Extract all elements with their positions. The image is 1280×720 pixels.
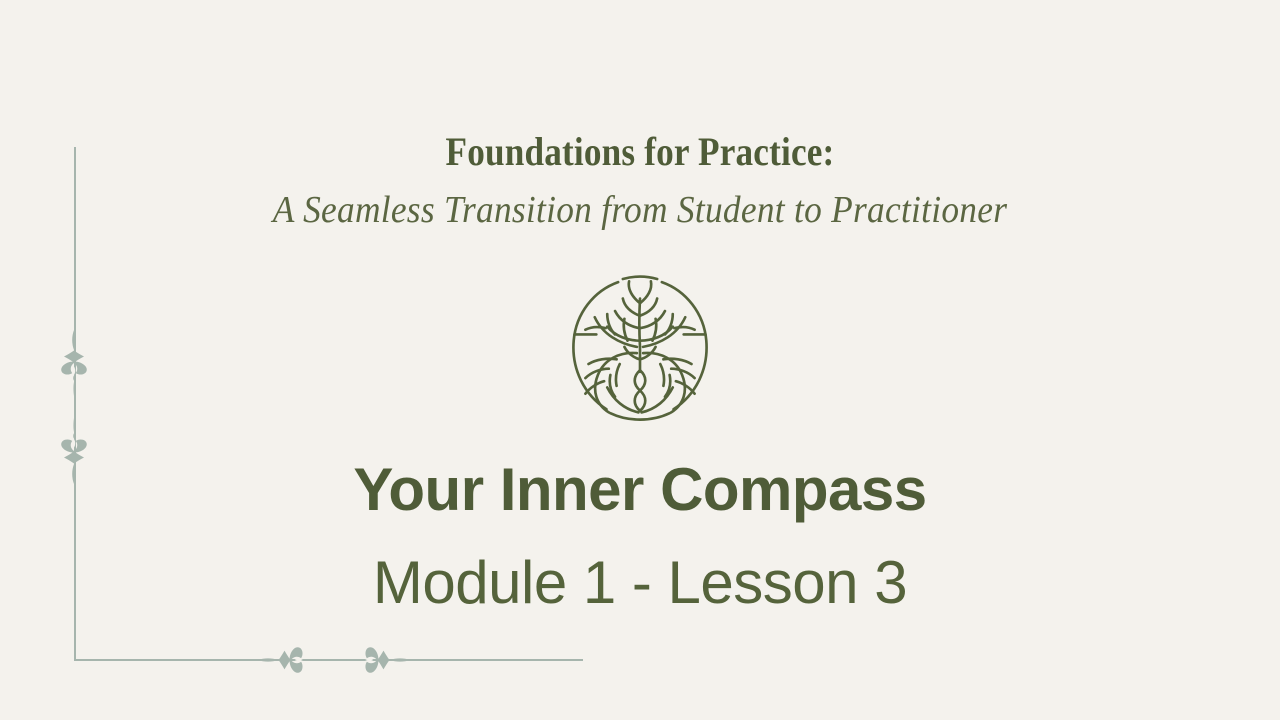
lesson-title: Your Inner Compass xyxy=(0,455,1280,524)
slide-content: Foundations for Practice: A Seamless Tra… xyxy=(0,0,1280,720)
presentation-slide: Foundations for Practice: A Seamless Tra… xyxy=(0,0,1280,720)
course-subtitle: A Seamless Transition from Student to Pr… xyxy=(45,188,1235,232)
course-title: Foundations for Practice: xyxy=(77,128,1203,175)
tree-of-life-logo xyxy=(562,272,718,428)
lesson-module-label: Module 1 - Lesson 3 xyxy=(0,548,1280,617)
